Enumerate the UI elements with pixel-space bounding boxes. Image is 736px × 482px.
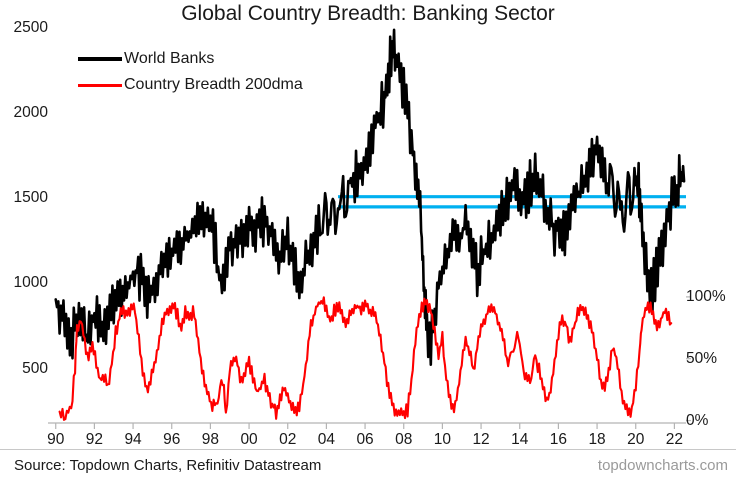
x-tick-label: 08 — [384, 431, 424, 449]
legend-swatch-black-line-icon — [78, 57, 122, 61]
x-tick-label: 18 — [577, 431, 617, 449]
legend-item-world-banks: World Banks — [78, 46, 378, 72]
legend-label-world-banks: World Banks — [124, 50, 214, 68]
x-tick-label: 10 — [422, 431, 462, 449]
x-tick-label: 20 — [616, 431, 656, 449]
chart-legend: World Banks Country Breadth 200dma — [78, 46, 378, 98]
footer-website-text: topdowncharts.com — [598, 457, 728, 474]
x-tick-label: 04 — [306, 431, 346, 449]
x-tick-label: 16 — [538, 431, 578, 449]
legend-item-country-breadth: Country Breadth 200dma — [78, 72, 378, 98]
x-tick-label: 94 — [113, 431, 153, 449]
x-tick-label: 14 — [500, 431, 540, 449]
x-tick-label: 90 — [36, 431, 76, 449]
x-tick-label: 00 — [229, 431, 269, 449]
x-tick-label: 96 — [152, 431, 192, 449]
chart-footer: Source: Topdown Charts, Refinitiv Datast… — [0, 449, 736, 482]
x-tick-label: 02 — [268, 431, 308, 449]
x-tick-label: 98 — [190, 431, 230, 449]
footer-source-text: Source: Topdown Charts, Refinitiv Datast… — [14, 457, 321, 474]
x-tick-label: 12 — [461, 431, 501, 449]
x-tick-label: 06 — [345, 431, 385, 449]
legend-swatch-red-line-icon — [78, 84, 122, 87]
x-tick-label: 22 — [654, 431, 694, 449]
chart-container: Global Country Breadth: Banking Sector 2… — [0, 0, 736, 482]
x-tick-label: 92 — [74, 431, 114, 449]
legend-label-country-breadth: Country Breadth 200dma — [124, 76, 303, 94]
